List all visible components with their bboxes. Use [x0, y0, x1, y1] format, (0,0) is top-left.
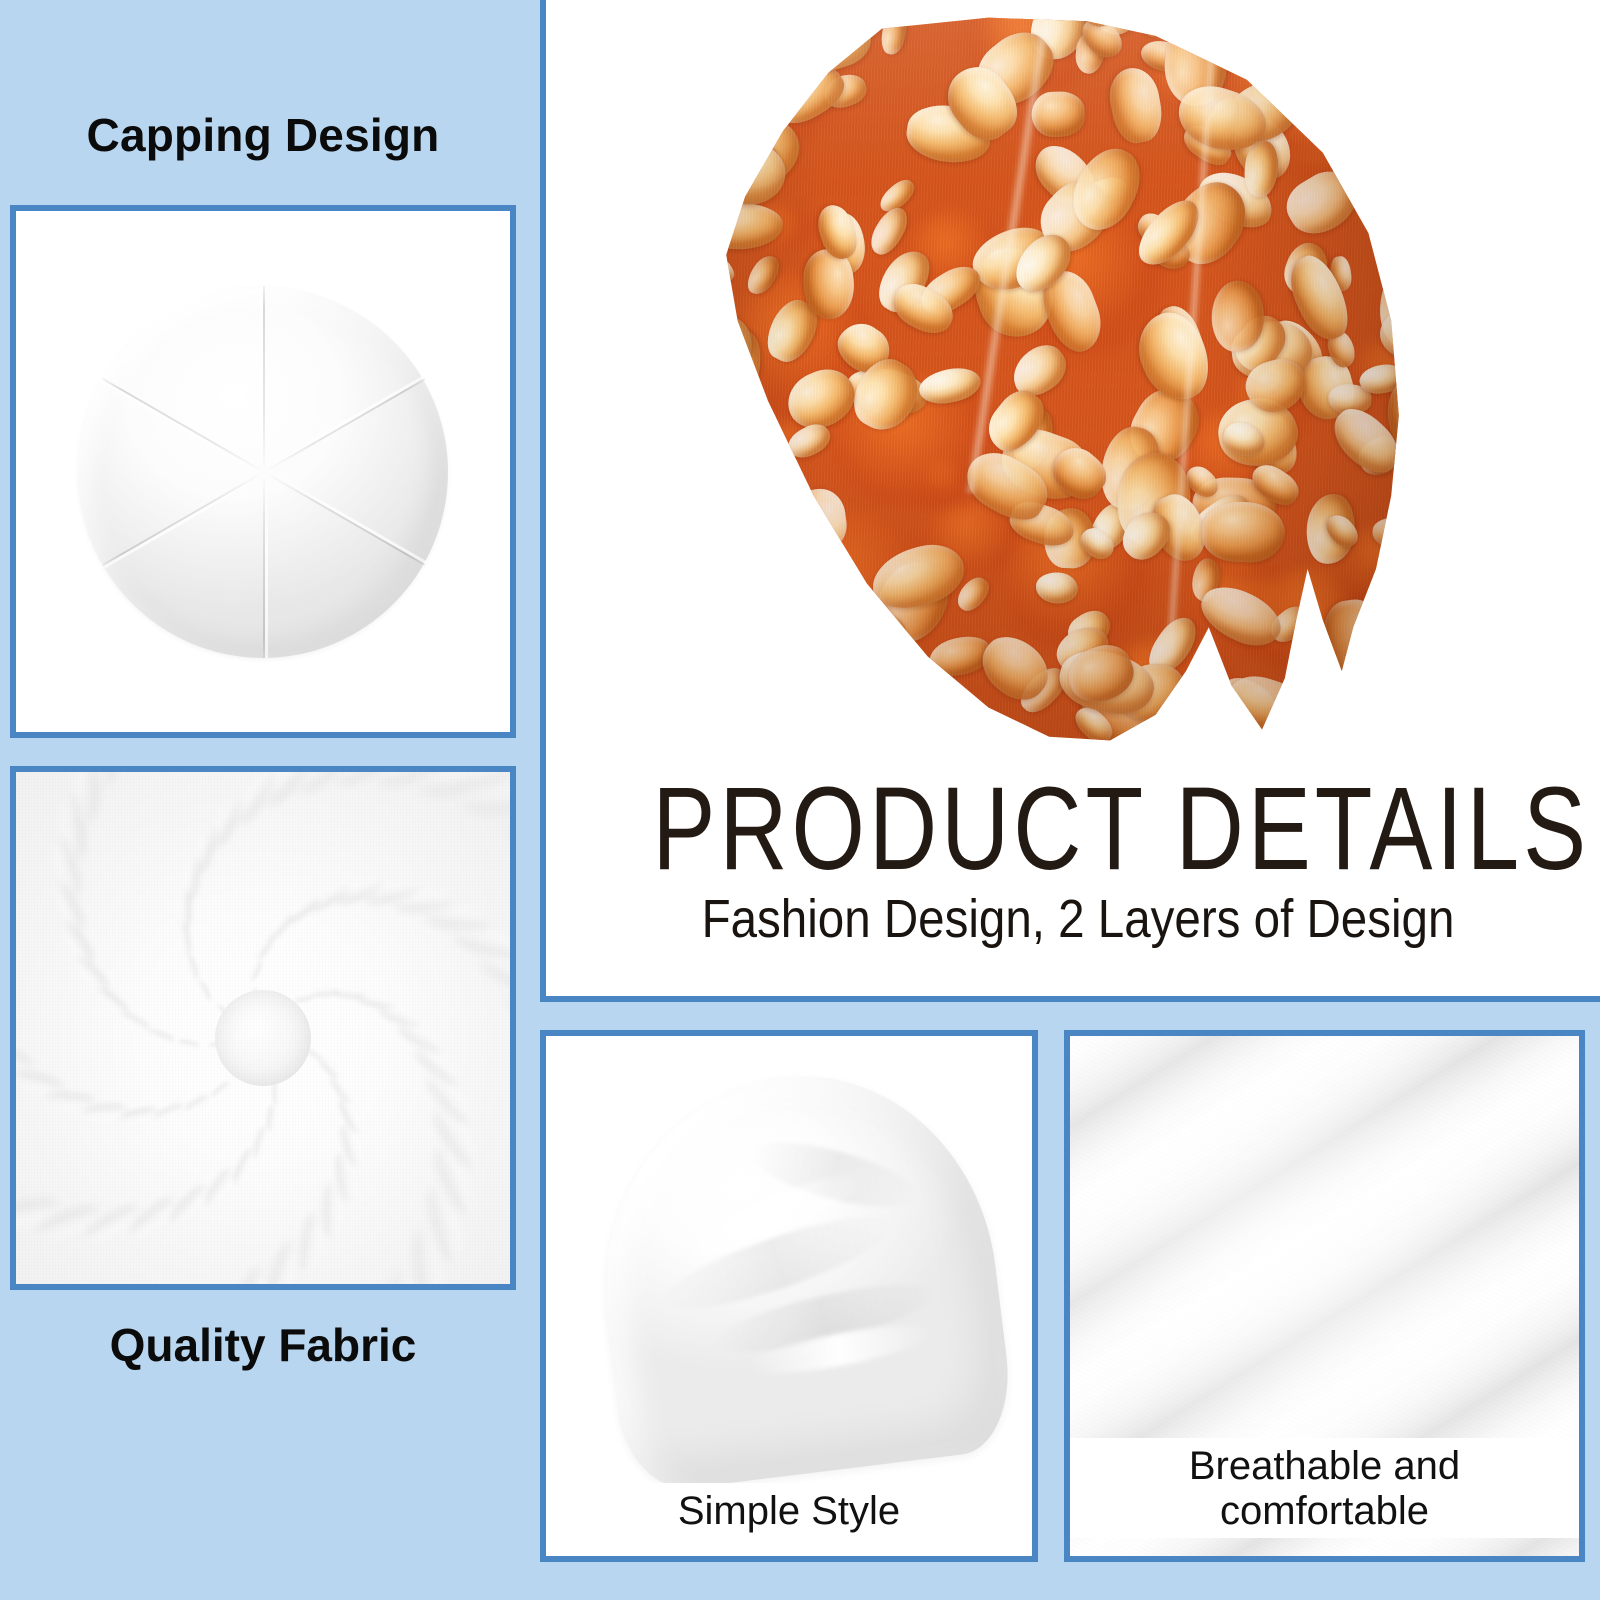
- bean-shape: [1388, 577, 1414, 655]
- page-title: PRODUCT DETAILS: [652, 770, 1503, 888]
- quality-fabric-title: Quality Fabric: [10, 1318, 516, 1372]
- panel-caption: Breathable and comfortable: [1070, 1438, 1579, 1538]
- bean-shape: [801, 661, 863, 731]
- bean-shape: [878, 14, 909, 56]
- fabric-weave-texture: [16, 772, 510, 1284]
- bean-shape: [1376, 162, 1414, 212]
- bean-shape: [1212, 14, 1266, 57]
- sauce-blob: [726, 649, 837, 734]
- panel-caption-line2: comfortable: [1070, 1489, 1579, 1534]
- sauce-blob: [654, 688, 725, 744]
- bean-shape: [1365, 711, 1414, 744]
- bean-shape: [698, 679, 756, 744]
- bean-shape: [691, 14, 734, 20]
- bean-shape: [654, 376, 672, 426]
- bean-shape: [654, 14, 706, 82]
- cap-crown-shape: [78, 286, 448, 658]
- crown-seam: [263, 472, 265, 658]
- sauce-blob: [654, 378, 733, 456]
- bean-shape: [1288, 712, 1351, 744]
- sauce-blob: [654, 612, 772, 744]
- panel-caption-line1: Breathable and: [1070, 1444, 1579, 1489]
- bean-shape: [1340, 107, 1414, 207]
- bean-shape: [693, 131, 791, 212]
- bean-shape: [1134, 14, 1172, 39]
- bean-shape: [1220, 14, 1251, 34]
- bean-shape: [668, 561, 735, 608]
- bean-shape: [654, 349, 689, 439]
- bean-shape: [654, 90, 716, 198]
- panel-caption: Simple Style: [546, 1483, 1032, 1538]
- white-beanie-shape: [580, 1055, 1017, 1496]
- bean-shape: [1212, 280, 1265, 352]
- bean-shape: [743, 635, 841, 699]
- bean-shape: [759, 662, 853, 744]
- bean-shape: [690, 85, 752, 126]
- bean-shape: [986, 716, 1050, 744]
- crown-seam: [263, 286, 265, 472]
- sauce-blob: [723, 579, 793, 643]
- bean-shape: [1399, 80, 1414, 131]
- bean-shape: [832, 600, 898, 690]
- crown-seam: [264, 471, 426, 566]
- bean-shape: [1198, 730, 1237, 744]
- bean-shape: [699, 247, 739, 286]
- bean-shape: [654, 146, 681, 218]
- bean-shape: [654, 231, 704, 303]
- bean-shape: [1356, 14, 1414, 33]
- bean-shape: [733, 670, 806, 744]
- panel-product-hero: PRODUCT DETAILS Fashion Design, 2 Layers…: [540, 0, 1600, 1002]
- sauce-blob: [747, 652, 912, 744]
- bean-shape: [1335, 688, 1392, 723]
- bean-shape: [1183, 715, 1233, 744]
- beanie-silhouette: [654, 14, 1414, 744]
- bean-shape: [1389, 619, 1414, 689]
- bean-shape: [1200, 501, 1285, 565]
- bean-shape: [751, 711, 794, 740]
- bean-shape: [744, 552, 772, 593]
- bean-shape: [697, 202, 782, 249]
- bean-shape: [865, 202, 914, 259]
- bean-shape: [1362, 644, 1414, 739]
- bean-shape: [1375, 675, 1414, 744]
- bean-shape: [654, 639, 718, 737]
- bean-shape: [1277, 19, 1325, 60]
- bean-shape: [654, 14, 697, 26]
- bean-shape: [717, 329, 760, 393]
- sauce-blob: [654, 229, 712, 306]
- white-beanie-image: [546, 1036, 1032, 1556]
- bean-shape: [1339, 681, 1408, 744]
- bean-shape: [681, 302, 720, 330]
- crown-seam: [102, 378, 264, 473]
- fabric-swirl-image: [16, 772, 510, 1284]
- panel-breathable-comfortable: Breathable and comfortable: [1064, 1030, 1585, 1562]
- bean-shape: [762, 651, 819, 708]
- bean-shape: [795, 14, 879, 77]
- bean-shape: [687, 596, 762, 684]
- bean-shape: [668, 550, 748, 634]
- bean-shape: [729, 14, 802, 40]
- bean-shape: [1326, 649, 1373, 699]
- bean-shape: [711, 606, 756, 652]
- bean-shape: [1219, 14, 1264, 25]
- page-subtitle: Fashion Design, 2 Layers of Design: [610, 890, 1546, 949]
- crown-seam: [264, 378, 426, 473]
- panel-simple-style: Simple Style: [540, 1030, 1038, 1562]
- beans-print-pattern: [654, 14, 1414, 744]
- bean-shape: [748, 643, 811, 704]
- bean-shape: [1031, 91, 1085, 137]
- bean-shape: [654, 95, 716, 147]
- beans-beanie-image: [654, 14, 1414, 744]
- bean-shape: [713, 115, 778, 164]
- bean-shape: [1318, 596, 1393, 691]
- bean-shape: [1277, 162, 1366, 245]
- crown-seam: [102, 471, 264, 566]
- panel-quality-fabric: [10, 766, 516, 1290]
- bean-shape: [654, 424, 743, 506]
- bean-shape: [1374, 188, 1414, 228]
- cap-crown-image: [16, 211, 510, 732]
- capping-design-title: Capping Design: [10, 108, 516, 162]
- panel-capping-design: [10, 205, 516, 738]
- bean-shape: [1380, 186, 1414, 263]
- infographic-stage: Capping Design Quality Fabric: [0, 0, 1600, 1600]
- bean-shape: [654, 248, 692, 297]
- bean-shape: [788, 486, 850, 556]
- sauce-blob: [1330, 656, 1372, 681]
